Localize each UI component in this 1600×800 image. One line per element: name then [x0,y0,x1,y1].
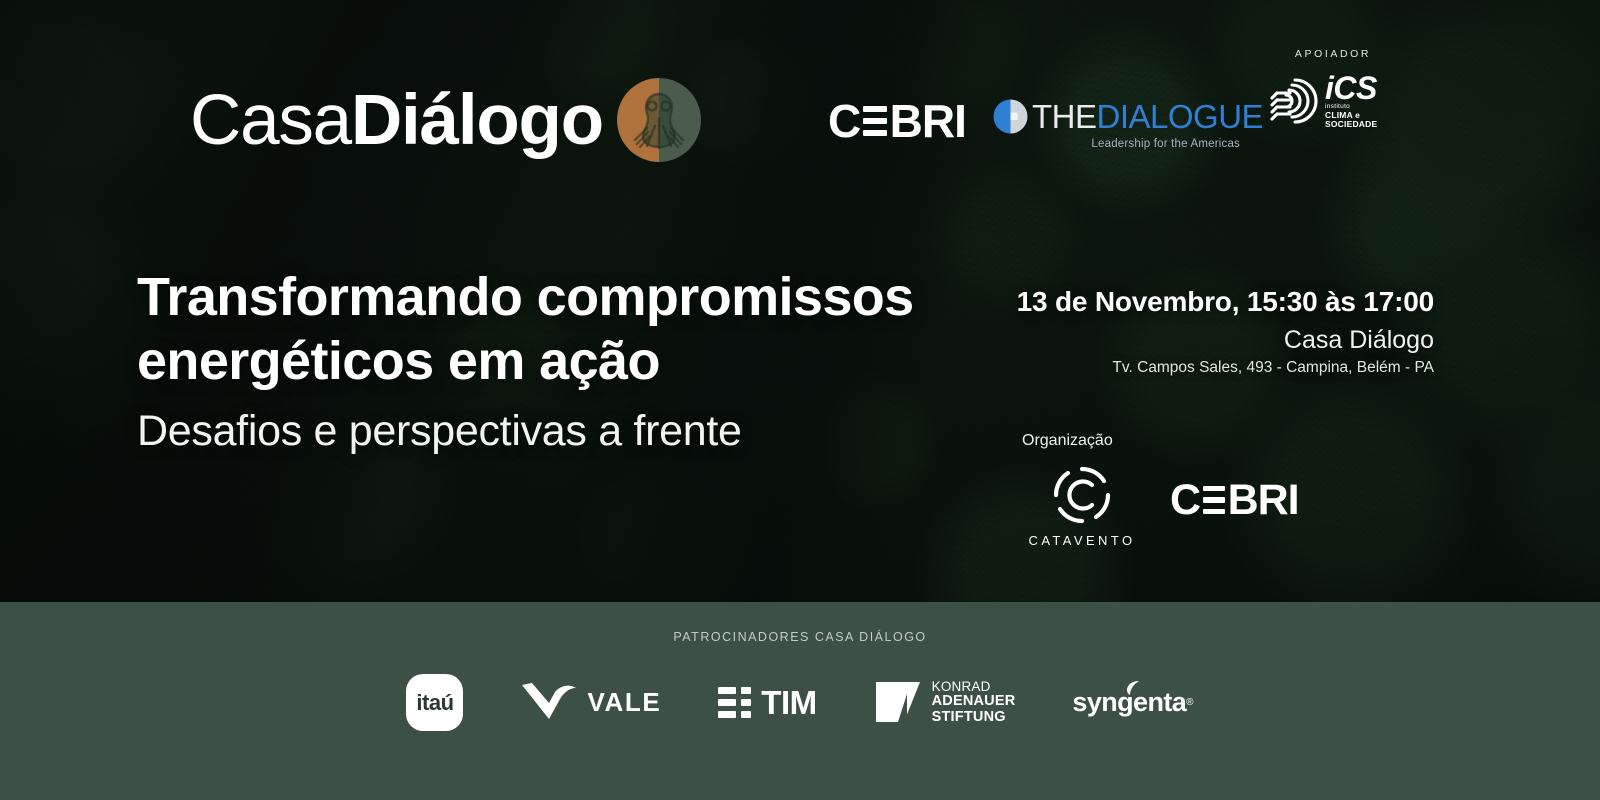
cebri-letter-c: C [828,94,860,148]
itau-wordmark: itaú [416,690,453,716]
brand-name-light: Casa [190,81,351,160]
ics-fingerprint-icon [1268,74,1322,128]
tim-bars-icon [718,687,751,718]
event-date-time: 13 de Novembro, 15:30 às 17:00 [1017,286,1434,318]
cebri-wordmark: C BRI [828,94,966,148]
cebri-letters-bri: BRI [890,94,966,148]
catavento-wordmark: CATAVENTO [1012,533,1152,548]
casa-dialogo-wordmark: CasaDiálogo [190,85,603,156]
brand-name-bold: Diálogo [351,81,603,160]
supporter-block: APOIADOR iCS [1268,48,1398,129]
organizers-label: Organização [1022,432,1332,450]
the-dialogue-wordmark: THEDIALOGUE [1032,100,1263,133]
casa-dialogo-frog-mark-icon [617,78,701,162]
cebri-logo-top[interactable]: C BRI [828,94,966,148]
the-dialogue-row: THEDIALOGUE [992,98,1240,135]
kas-line-stiftung: STIFTUNG [932,710,1016,726]
sponsors-label: PATROCINADORES CASA DIÁLOGO [0,630,1600,644]
hero-banner: CasaDiálogo [0,0,1600,602]
sponsor-tim[interactable]: TIM [718,684,816,722]
vale-bird-icon [520,679,578,726]
dialogue-circle-icon [992,98,1029,135]
sponsor-syngenta[interactable]: syngenta ® [1072,687,1193,718]
sponsor-itau[interactable]: itaú [406,674,463,731]
itau-logo: itaú [406,674,463,731]
word-the: THE [1032,98,1097,135]
cebri-wordmark-organizer: C BRI [1170,476,1299,525]
organizers-block: Organização [1012,432,1332,548]
cebri-org-letters-bri: BRI [1228,476,1299,525]
cebri-org-letter-c: C [1170,476,1200,525]
sponsors-footer: PATROCINADORES CASA DIÁLOGO itaú VALE TI… [0,602,1600,800]
sponsor-vale[interactable]: VALE [520,679,661,726]
word-dialogue: DIALOGUE [1097,98,1264,135]
kas-line-konrad: KONRAD [932,680,1016,695]
partner-logo-row: CasaDiálogo [0,62,1600,182]
syngenta-leaf-icon [1125,680,1141,701]
catavento-logo[interactable]: CATAVENTO [1012,462,1152,548]
e-bars-icon [863,106,887,136]
the-dialogue-tagline: Leadership for the Americas [992,138,1240,150]
event-details: 13 de Novembro, 15:30 às 17:00 Casa Diál… [1017,286,1434,377]
kas-line-adenauer: ADENAUER [932,694,1016,710]
cebri-logo-organizer[interactable]: C BRI [1170,476,1299,525]
e-bars-icon [1203,486,1225,514]
ics-text: iCS instituto CLIMA e SOCIEDADE [1325,73,1398,129]
casa-dialogo-logo[interactable]: CasaDiálogo [190,78,701,162]
sponsor-logo-row: itaú VALE TIM [0,674,1600,731]
event-subheadline: Desafios e perspectivas a frente [137,407,997,456]
event-headline: Transformando compromissos energéticos e… [137,266,997,393]
ics-sub-clima-sociedade: CLIMA e SOCIEDADE [1325,111,1398,130]
event-address: Tv. Campos Sales, 493 - Campina, Belém -… [1017,359,1434,377]
tim-wordmark: TIM [761,684,816,722]
apoiador-label: APOIADOR [1268,48,1398,60]
vale-wordmark: VALE [587,687,661,718]
syngenta-registered-mark: ® [1186,697,1193,708]
headline-block: Transformando compromissos energéticos e… [137,266,997,456]
catavento-pinwheel-icon [1049,462,1115,528]
ics-acronym: iCS [1325,73,1398,103]
kas-text: KONRAD ADENAUER STIFTUNG [932,680,1016,726]
event-venue-name: Casa Diálogo [1017,326,1434,355]
sponsor-konrad-adenauer-stiftung[interactable]: KONRAD ADENAUER STIFTUNG [874,680,1016,726]
ics-logo[interactable]: iCS instituto CLIMA e SOCIEDADE [1268,73,1398,129]
organizers-logo-row: CATAVENTO C BRI [1012,462,1332,548]
kas-block-icon [874,680,924,724]
the-dialogue-logo[interactable]: THEDIALOGUE Leadership for the Americas [992,98,1240,150]
